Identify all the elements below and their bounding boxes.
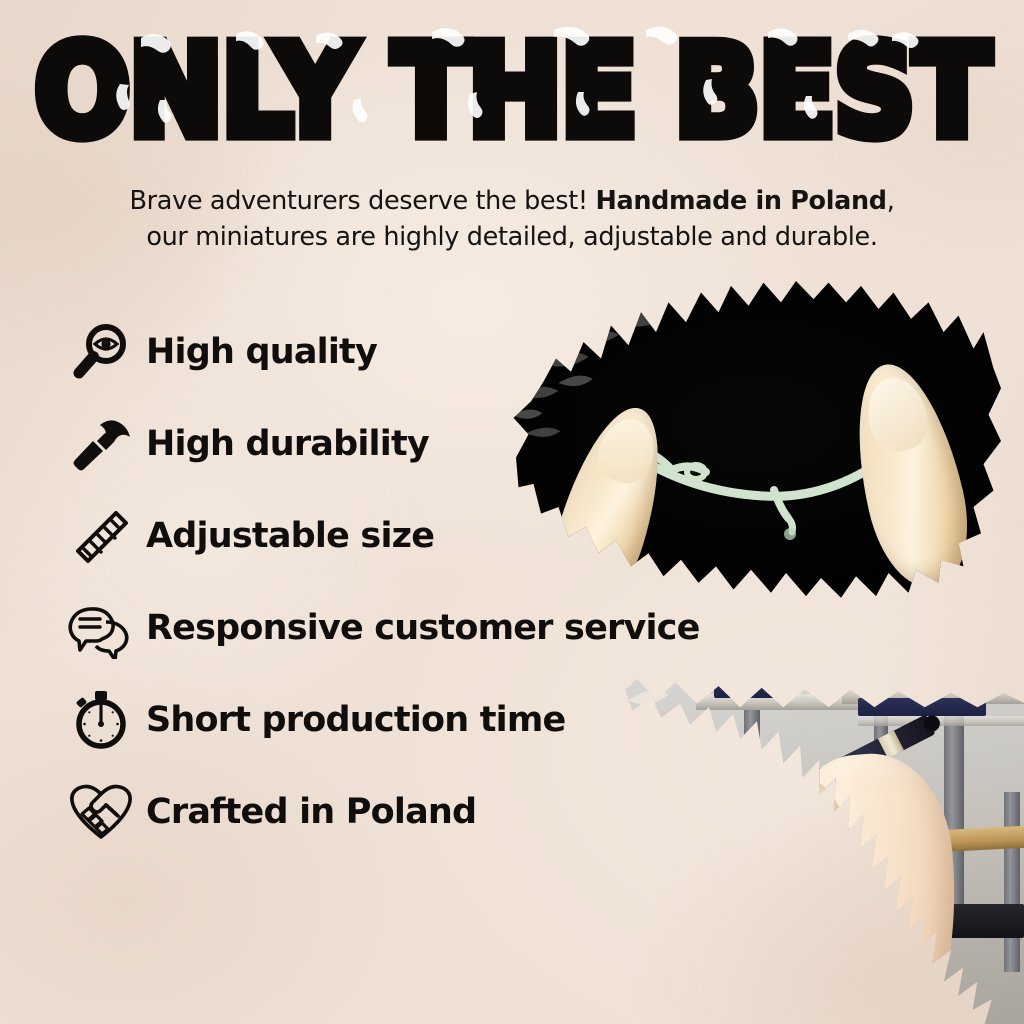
feature-label: Short production time	[146, 700, 565, 740]
feature-item-high-quality: High quality	[62, 306, 762, 398]
subtitle-line2: our miniatures are highly detailed, adju…	[146, 222, 877, 252]
heart-handshake-icon	[62, 775, 140, 849]
feature-item-high-durability: High durability	[62, 398, 762, 490]
subtitle-tail: ,	[887, 186, 895, 216]
subtitle-emphasis: Handmade in Poland	[595, 186, 886, 216]
feature-item-crafted-in-poland: Crafted in Poland	[62, 766, 762, 858]
speech-bubbles-icon	[62, 591, 140, 665]
magnifier-eye-icon	[62, 315, 140, 389]
feature-label: High durability	[146, 424, 429, 464]
title-block: ONLY THE BEST	[0, 36, 1024, 148]
poster-canvas: ONLY THE BEST Brave adventurers deserve …	[0, 0, 1024, 1024]
subtitle: Brave adventurers deserve the best! Hand…	[82, 183, 942, 255]
feature-list: High quality High durability	[62, 306, 762, 858]
feature-item-short-production-time: Short production time	[62, 674, 762, 766]
subtitle-lead: Brave adventurers deserve the best!	[130, 186, 596, 216]
stopwatch-icon	[62, 683, 140, 757]
feature-item-adjustable-size: Adjustable size	[62, 490, 762, 582]
hand-right	[776, 747, 968, 1024]
hammer-icon	[62, 407, 140, 481]
page-title: ONLY THE BEST	[35, 29, 990, 154]
feature-label: Adjustable size	[146, 516, 434, 556]
feature-label: Responsive customer service	[146, 608, 700, 648]
ruler-icon	[62, 499, 140, 573]
feature-label: High quality	[146, 332, 377, 372]
feature-item-responsive-customer-service: Responsive customer service	[62, 582, 762, 674]
feature-label: Crafted in Poland	[146, 792, 476, 832]
